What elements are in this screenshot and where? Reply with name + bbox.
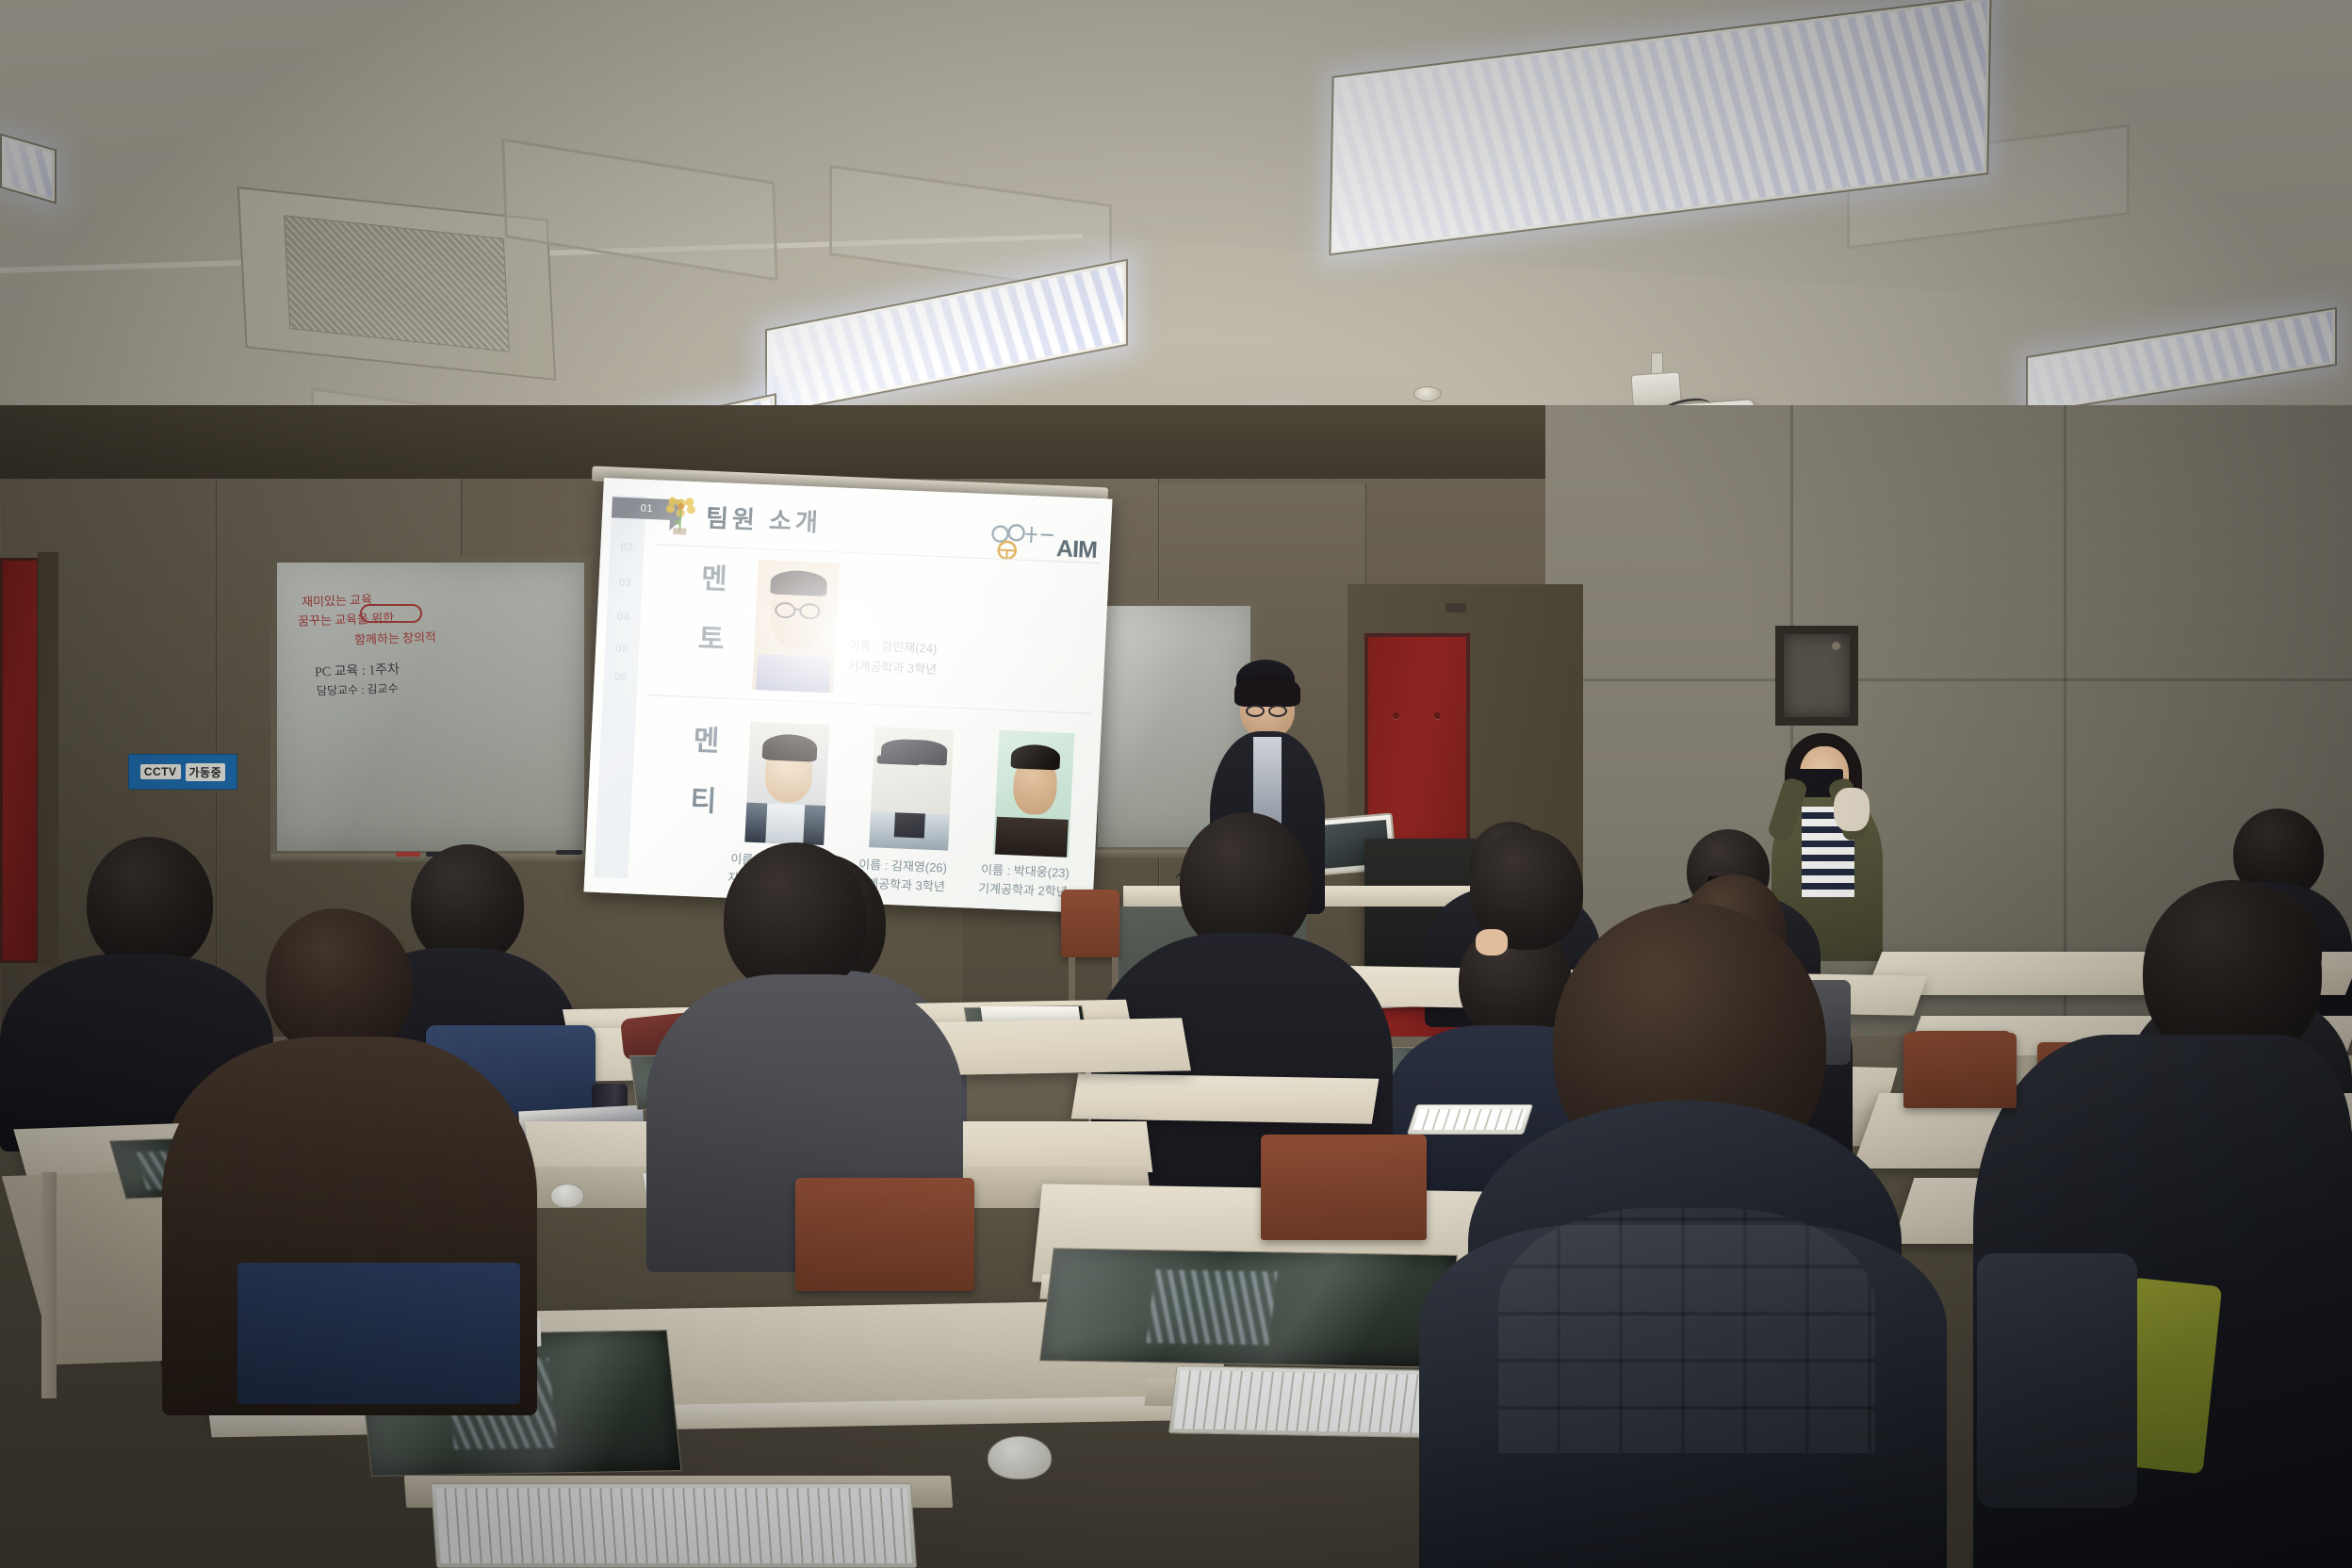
chair[interactable] xyxy=(1903,1033,2017,1108)
projection-screen: 01 02 03 04 05 06 팀원 소개 xyxy=(583,478,1112,913)
cctv-sign: CCTV 가동중 xyxy=(128,754,237,790)
student-head xyxy=(411,844,524,965)
door-red-left[interactable] xyxy=(0,558,40,963)
mentor-photo xyxy=(752,560,840,693)
slide-label-mentee: 멘티 xyxy=(677,725,724,847)
door-left-frame xyxy=(38,552,58,967)
chair[interactable] xyxy=(795,1178,974,1291)
whiteboard-text-red: 함께하는 창의적 xyxy=(354,627,437,647)
classroom-photo: CCTV 가동중 재미있는 교육 꿈꾸는 교육을 위한 함께하는 창의적 PC … xyxy=(0,0,2352,1568)
whiteboard-text-black: PC 교육 : 1주차 xyxy=(315,659,400,680)
mentee-dept-3: 기계공학과 2학년 xyxy=(978,880,1068,902)
mouse[interactable] xyxy=(550,1184,584,1208)
aim-logo-text: AIM xyxy=(1055,535,1097,564)
student-head xyxy=(87,837,213,971)
whiteboard-text-black: 담당교수 : 김교수 xyxy=(317,679,399,698)
whiteboard-highlight-box xyxy=(360,604,422,623)
mouse[interactable] xyxy=(988,1436,1052,1479)
flower-icon xyxy=(663,494,697,541)
embedded-monitor xyxy=(1039,1248,1458,1367)
slide-nav-item-03[interactable]: 03 xyxy=(608,572,643,594)
marker[interactable] xyxy=(396,852,420,857)
cctv-label-secondary: 가동중 xyxy=(186,763,226,781)
presenter-hair xyxy=(1234,675,1300,707)
chair-seat[interactable] xyxy=(237,1263,520,1404)
student-hand xyxy=(1476,929,1508,955)
chair[interactable] xyxy=(1061,890,1119,957)
mentee-name-2: 이름 : 김재영(26) xyxy=(858,857,948,878)
keyboard[interactable] xyxy=(431,1483,917,1568)
slide-nav-item-05[interactable]: 05 xyxy=(605,638,640,660)
photographer-fur-collar xyxy=(1834,788,1870,831)
slide-title: 팀원 소개 xyxy=(705,499,823,539)
wall-picture-frame xyxy=(1775,626,1858,726)
mentee-photo-2 xyxy=(869,727,954,850)
slide-nav-item-06[interactable]: 06 xyxy=(603,666,638,688)
student-head xyxy=(724,842,867,995)
desk xyxy=(1071,1073,1380,1124)
slide-label-mentor: 멘토 xyxy=(684,563,731,685)
mentee-name-3: 이름 : 박대웅(23) xyxy=(981,861,1070,883)
marker[interactable] xyxy=(556,850,582,855)
presenter-glasses xyxy=(1268,705,1287,717)
chair[interactable] xyxy=(1261,1135,1427,1240)
door-closer xyxy=(1445,603,1466,612)
slide-divider xyxy=(648,694,1093,714)
wall-upper-strip xyxy=(0,405,1555,479)
right-wall-seam xyxy=(1545,678,2352,681)
whiteboard-left: 재미있는 교육 꿈꾸는 교육을 위한 함께하는 창의적 PC 교육 : 1주차 … xyxy=(270,556,591,857)
smoke-detector xyxy=(1413,386,1442,401)
desk-leg xyxy=(41,1172,57,1398)
slide-nav-item-04[interactable]: 04 xyxy=(606,606,641,628)
mentor-name: 이름 : 강민재(24) xyxy=(848,637,938,659)
keyboard[interactable] xyxy=(1407,1104,1533,1135)
slide-nav-item-02[interactable]: 02 xyxy=(610,536,645,558)
mentor-dept: 기계공학과 3학년 xyxy=(847,658,937,679)
cctv-label-primary: CCTV xyxy=(140,764,181,779)
mentee-photo-3 xyxy=(993,730,1074,857)
foreground-student-jacket-panel xyxy=(1977,1253,2137,1508)
presenter-glasses xyxy=(1246,705,1265,717)
mentee-photo-1 xyxy=(744,722,829,845)
presentation-slide: 01 02 03 04 05 06 팀원 소개 xyxy=(583,478,1112,913)
foreground-student-quilt xyxy=(1498,1208,1875,1453)
